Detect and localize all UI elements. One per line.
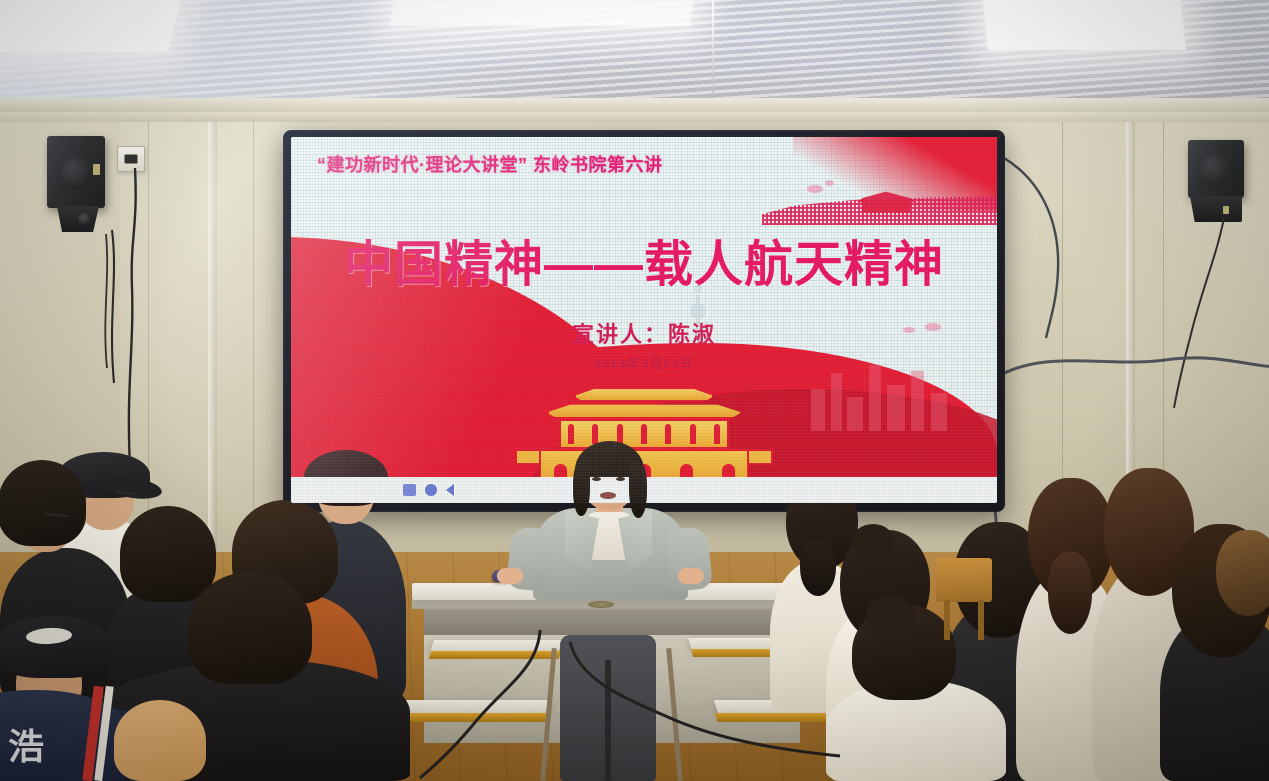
wooden-chair [936,558,992,602]
presenter-hand-left [497,568,523,584]
presenter-hand-right [678,568,704,584]
slide-cloud-dot [807,185,823,193]
jersey-character: 浩 [8,718,44,770]
speaker-badge [93,164,100,175]
slide-tiananmen-illustration [519,363,769,483]
desk-cable-grommet [588,601,614,608]
speaker-bracket-right [1190,196,1242,222]
slide-kicker-text: “建功新时代·理论大讲堂” 东岭书院第六讲 [317,151,663,177]
presenter-mouth [600,492,616,499]
slide-date-text: 2023年5月24日 [291,353,997,372]
student-desk-edge [396,713,551,722]
presenter-leg-gap [605,660,611,781]
presenter-eye-left [592,477,601,481]
student-desk [397,700,552,714]
display-screen[interactable]: “建功新时代·理论大讲堂” 东岭书院第六讲 中国精神——载人航天精神 宣讲人：陈… [291,137,997,503]
ceiling-seam [712,0,714,112]
note-icon[interactable] [403,484,416,496]
outlet-socket-icon [125,154,138,163]
presenter-eye-right [616,477,625,481]
speaker-cone-icon [1200,154,1230,186]
presenter-hair-right [629,462,647,518]
ceiling-light-panel-center [390,0,694,26]
presenter-desk-apron [424,609,800,635]
speaker-badge [1223,206,1229,214]
pointer-icon[interactable] [425,484,437,496]
presenter-hair-left [573,462,590,516]
slide-presenter-line: 宣讲人：陈淑 [291,317,997,349]
student-desk-edge [429,651,562,659]
chevron-left-icon[interactable] [446,484,454,496]
slide-cloud-dot [825,180,834,186]
lecture-hall-photo: “建功新时代·理论大讲堂” 东岭书院第六讲 中国精神——载人航天精神 宣讲人：陈… [0,0,1269,781]
wall-speaker-right [1188,140,1244,198]
wall-speaker-left [47,136,105,208]
speaker-cone-icon [61,156,91,190]
ceiling-light-panel-right [982,0,1186,50]
wall-power-outlet[interactable] [117,146,145,172]
wall-mounted-display[interactable]: “建功新时代·理论大讲堂” 东岭书院第六讲 中国精神——载人航天精神 宣讲人：陈… [283,130,1005,512]
slide-main-title: 中国精神——载人航天精神 [291,225,997,296]
chair-leg [978,600,984,640]
ceiling-light-panel-left [0,0,182,52]
speaker-driver-icon [78,213,92,225]
chair-leg [944,600,950,640]
slide-toolbar[interactable] [403,484,454,496]
